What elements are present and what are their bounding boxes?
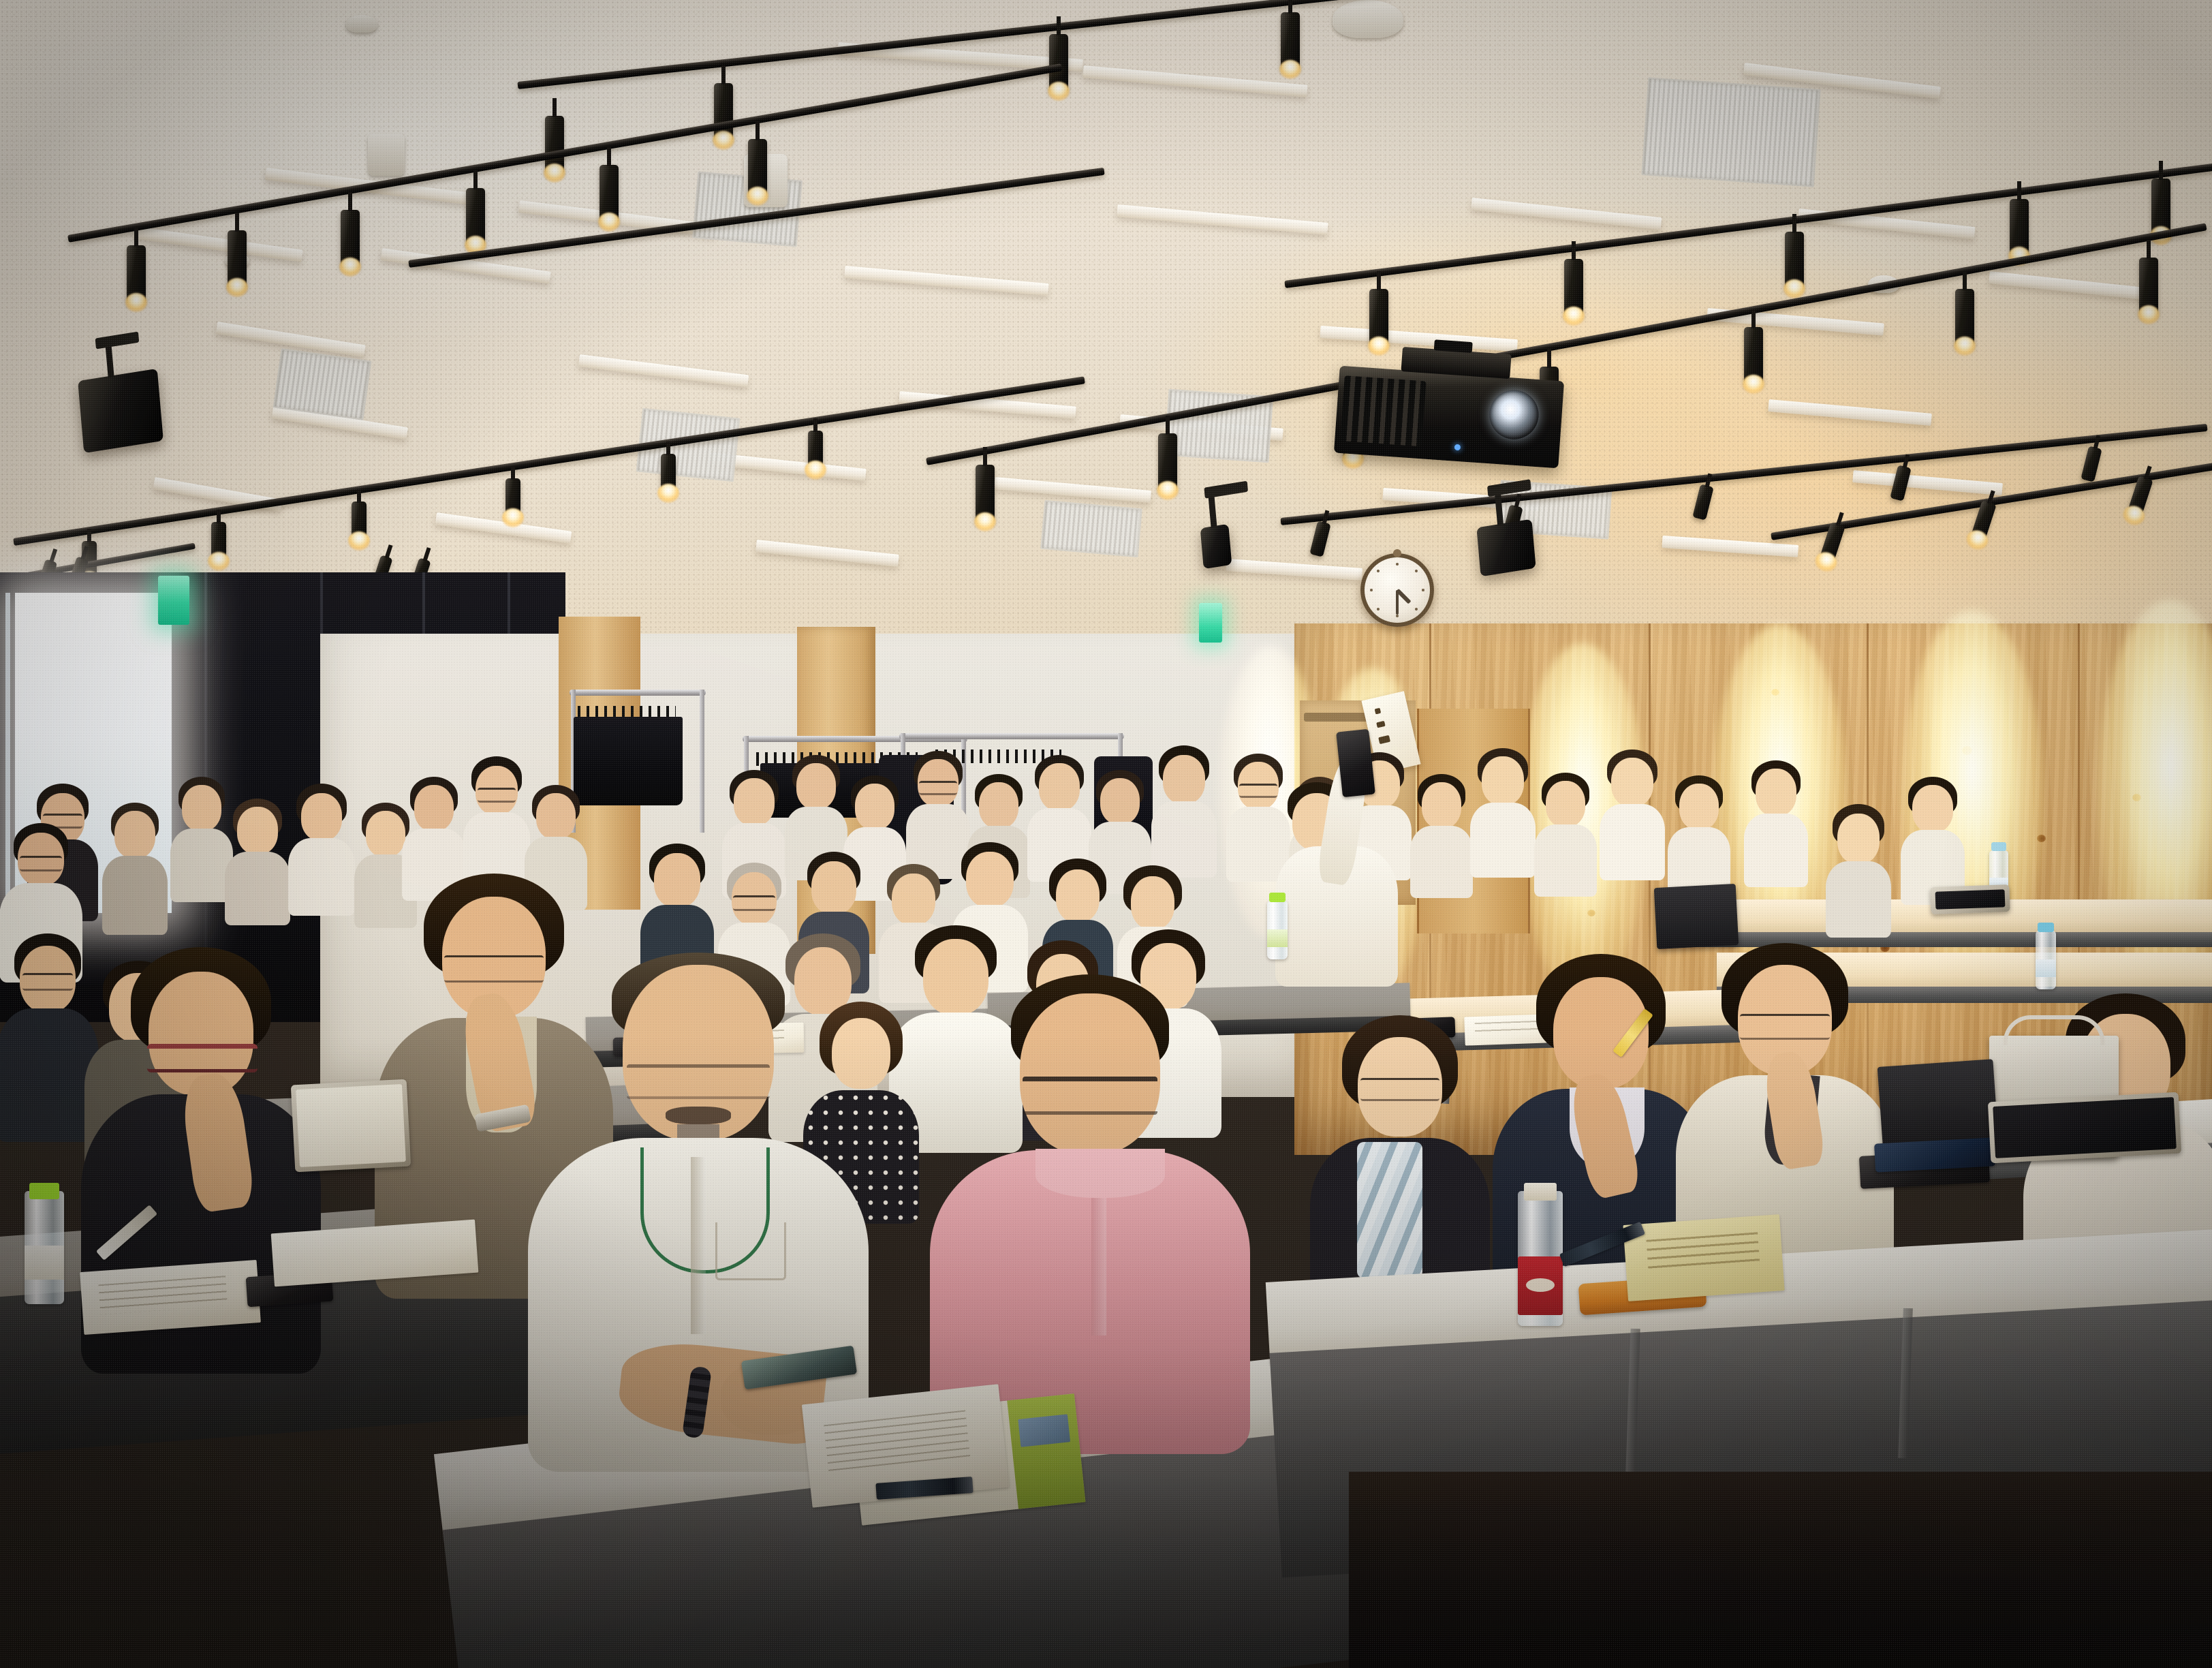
projector-vent-fins xyxy=(1340,375,1426,446)
shirt-placket xyxy=(691,1157,706,1334)
audience-member xyxy=(1826,804,1891,933)
audience-member xyxy=(289,784,354,913)
track-spotlight xyxy=(127,245,146,304)
ceiling-speaker xyxy=(1200,524,1232,569)
label-mark xyxy=(1526,1278,1555,1292)
clothing-rack-left xyxy=(570,690,706,833)
audience-member xyxy=(0,933,95,1138)
water-bottle-blue-cap xyxy=(2036,931,2056,989)
eyeglasses xyxy=(1023,1077,1157,1115)
clock-minute-hand xyxy=(1396,590,1399,615)
wall-clock xyxy=(1360,553,1434,627)
audience-member xyxy=(1410,774,1473,895)
person-white-shirt-lanyard xyxy=(538,953,858,1470)
person-raising-phone xyxy=(1275,782,1398,987)
water-bottle-red-label xyxy=(1518,1191,1563,1326)
track-spotlight xyxy=(661,454,676,495)
track-spotlight xyxy=(2151,179,2170,237)
handout-sheet xyxy=(80,1260,261,1335)
air-vent-grille xyxy=(1040,500,1142,557)
audience-member xyxy=(102,803,168,932)
track-spotlight xyxy=(505,478,520,519)
projector-status-led xyxy=(1454,444,1461,451)
track-spotlight xyxy=(748,139,767,198)
ceiling-speaker xyxy=(78,369,163,453)
audience-member xyxy=(1901,777,1965,902)
smoke-detector xyxy=(346,15,377,33)
track-spotlight xyxy=(341,210,360,268)
audience-member xyxy=(1744,760,1808,884)
air-vent-grille xyxy=(273,348,372,420)
rimless-eyeglasses xyxy=(627,1064,770,1099)
track-spotlight xyxy=(211,522,226,563)
smoke-detector xyxy=(368,134,405,176)
track-spotlight xyxy=(714,83,733,142)
ceiling-projector xyxy=(1334,366,1564,469)
audience-member xyxy=(1470,748,1536,875)
audience-member xyxy=(225,799,290,921)
seminar-room-photo xyxy=(0,0,2212,1668)
patterned-scarf xyxy=(1357,1142,1422,1278)
bag-handle xyxy=(2004,1015,2105,1045)
clock-knob xyxy=(1393,549,1401,557)
track-spotlight xyxy=(1158,433,1177,492)
audience-member xyxy=(1668,775,1730,897)
track-spotlight xyxy=(1785,232,1804,290)
track-spotlight xyxy=(976,465,995,523)
audience-member xyxy=(1600,750,1665,878)
shirt-pocket xyxy=(715,1222,786,1280)
moustache xyxy=(666,1107,731,1124)
audience-member xyxy=(1151,745,1217,875)
audience-member xyxy=(170,777,233,899)
tablet-stand[interactable] xyxy=(291,1079,411,1173)
air-vent-grille xyxy=(1641,77,1820,187)
track-spotlight xyxy=(2010,199,2029,258)
ceiling-speaker xyxy=(1476,519,1536,577)
water-bottle-green-cap xyxy=(1267,901,1288,959)
person-pink-shirt xyxy=(940,974,1240,1451)
track-spotlight xyxy=(228,230,247,289)
track-spotlight xyxy=(599,165,619,223)
track-spotlight xyxy=(1564,259,1583,318)
audience-member xyxy=(463,756,530,886)
exit-sign-center xyxy=(1199,603,1222,643)
track-spotlight xyxy=(2139,258,2158,316)
red-eyeglasses xyxy=(147,1044,258,1072)
track-spotlight xyxy=(1955,289,1974,347)
tablet-stand[interactable] xyxy=(1988,1092,2181,1164)
track-spotlight xyxy=(352,501,367,542)
shirt-collar xyxy=(1035,1149,1165,1198)
floor xyxy=(1349,1472,2212,1668)
projector-lens xyxy=(1488,388,1540,441)
exit-sign-left xyxy=(158,576,189,625)
black-chair[interactable] xyxy=(1654,884,1739,949)
track-spotlight xyxy=(1369,289,1388,347)
track-spotlight xyxy=(1281,12,1300,71)
track-spotlight xyxy=(466,188,485,247)
held-smartphone[interactable] xyxy=(1336,729,1375,797)
track-spotlight xyxy=(808,431,823,472)
smoke-detector xyxy=(1333,0,1403,38)
track-spotlight xyxy=(545,116,564,174)
track-spotlight xyxy=(1744,327,1763,386)
water-bottle-green-cap xyxy=(25,1191,64,1304)
audience-member xyxy=(1534,773,1597,894)
tablet-stand[interactable] xyxy=(1930,884,2010,914)
